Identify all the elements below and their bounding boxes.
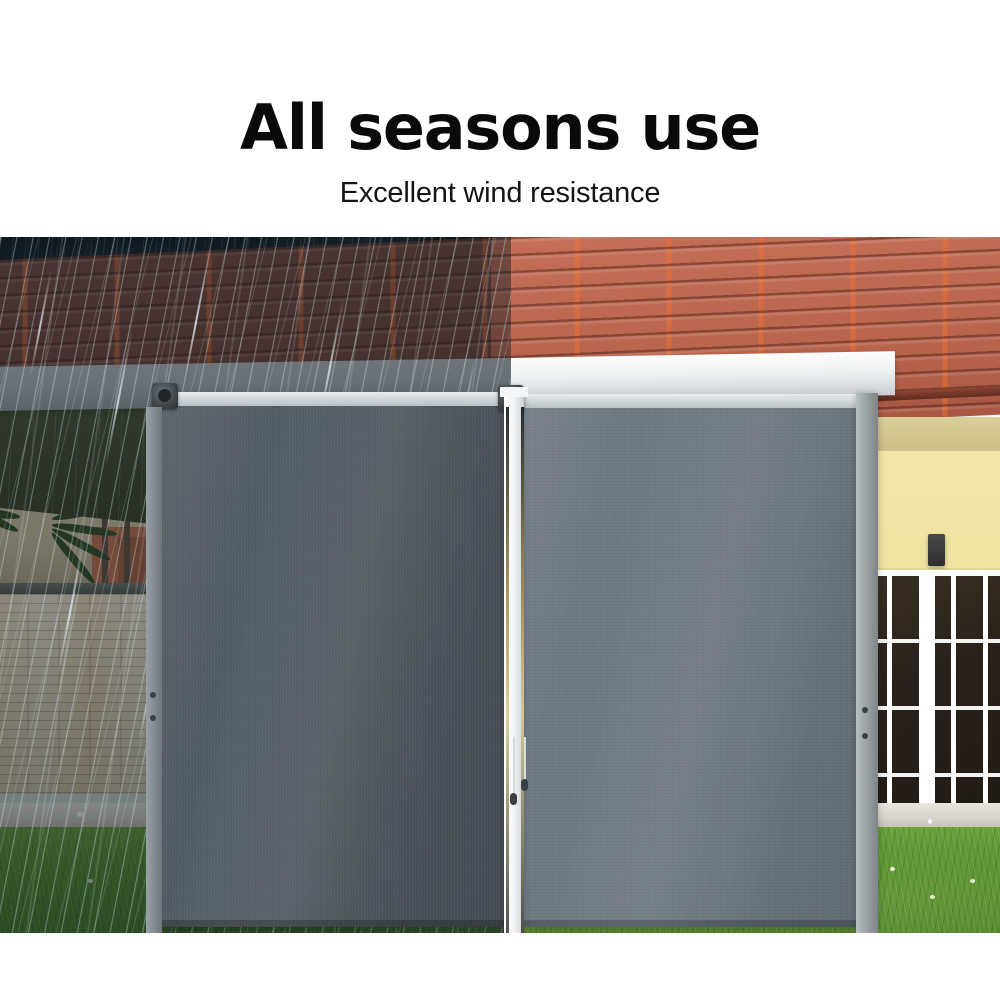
blind-cord[interactable]	[524, 737, 526, 781]
clover-flower	[970, 879, 975, 883]
wall-light-fixture	[928, 534, 945, 566]
blind-sheen	[160, 398, 510, 927]
post-bolt	[150, 715, 156, 721]
clover-flower	[930, 895, 935, 899]
bottom-white-band	[0, 933, 1000, 1000]
cord-weight[interactable]	[510, 793, 517, 805]
product-photo: Note: Only prevent level 1-2 wind.	[0, 237, 1000, 933]
clover-flower	[88, 879, 93, 883]
support-post-right	[856, 393, 878, 933]
door-mullion	[922, 576, 935, 834]
post-bolt	[862, 733, 868, 739]
blind-headrail-left	[160, 392, 510, 406]
stone-veneer-wall	[0, 594, 148, 794]
blind-cord[interactable]	[513, 737, 515, 795]
roller-blind-right[interactable]	[524, 400, 869, 927]
header-band: All seasons use Excellent wind resistanc…	[0, 0, 1000, 237]
roller-blind-left[interactable]	[160, 398, 510, 927]
post-bolt	[862, 707, 868, 713]
guide-cable	[521, 407, 524, 933]
page-subtitle: Excellent wind resistance	[0, 178, 1000, 208]
clover-flower	[890, 867, 895, 871]
blind-bottom-hem	[160, 920, 510, 927]
page-title: All seasons use	[0, 97, 1000, 159]
blind-sheen	[524, 400, 869, 927]
mounting-bracket	[152, 383, 178, 409]
product-marketing-image: All seasons use Excellent wind resistanc…	[0, 0, 1000, 1000]
guide-cable	[506, 407, 509, 933]
cord-weight[interactable]	[521, 779, 528, 791]
post-cap	[500, 387, 528, 397]
blind-bottom-hem	[524, 920, 869, 927]
blind-headrail-right	[524, 394, 869, 408]
post-bolt	[150, 692, 156, 698]
support-post-left	[146, 407, 162, 933]
